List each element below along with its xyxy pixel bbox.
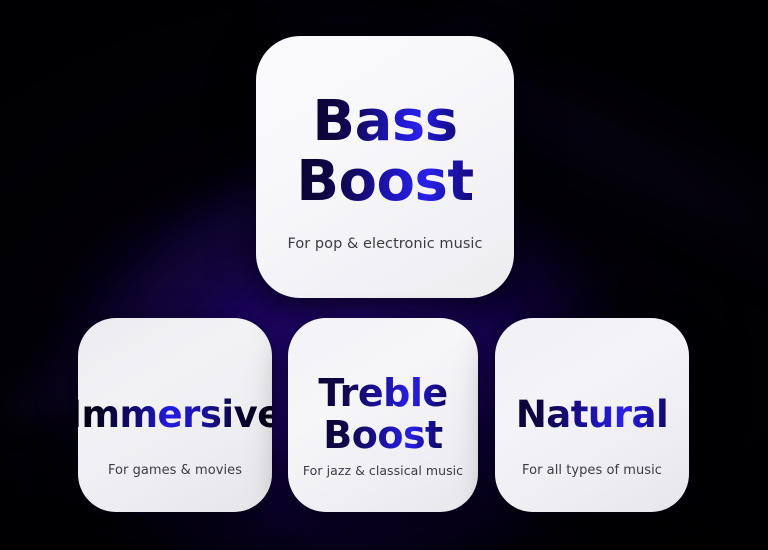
- preset-title-line-2: Boost: [292, 152, 477, 212]
- sound-preset-screen: Bass Boost For pop & electronic music Im…: [0, 0, 768, 550]
- preset-title-line-1: Bass: [308, 92, 461, 152]
- preset-subtitle: For all types of music: [495, 463, 689, 478]
- preset-title-line-1: Natural: [512, 396, 672, 434]
- preset-subtitle: For games & movies: [78, 463, 272, 478]
- preset-subtitle: For pop & electronic music: [256, 236, 514, 252]
- preset-card-treble-boost[interactable]: Treble Boost For jazz & classical music: [288, 318, 478, 512]
- preset-subtitle: For jazz & classical music: [288, 463, 478, 478]
- preset-card-immersive[interactable]: Immersive For games & movies: [78, 318, 272, 512]
- preset-card-bass-boost[interactable]: Bass Boost For pop & electronic music: [256, 36, 514, 298]
- preset-title-line-2: Boost: [319, 415, 446, 457]
- preset-title-line-1: Treble: [314, 373, 451, 415]
- preset-card-natural[interactable]: Natural For all types of music: [495, 318, 689, 512]
- preset-title-line-1: Immersive: [78, 396, 272, 434]
- preset-title-group: Bass Boost: [292, 92, 477, 213]
